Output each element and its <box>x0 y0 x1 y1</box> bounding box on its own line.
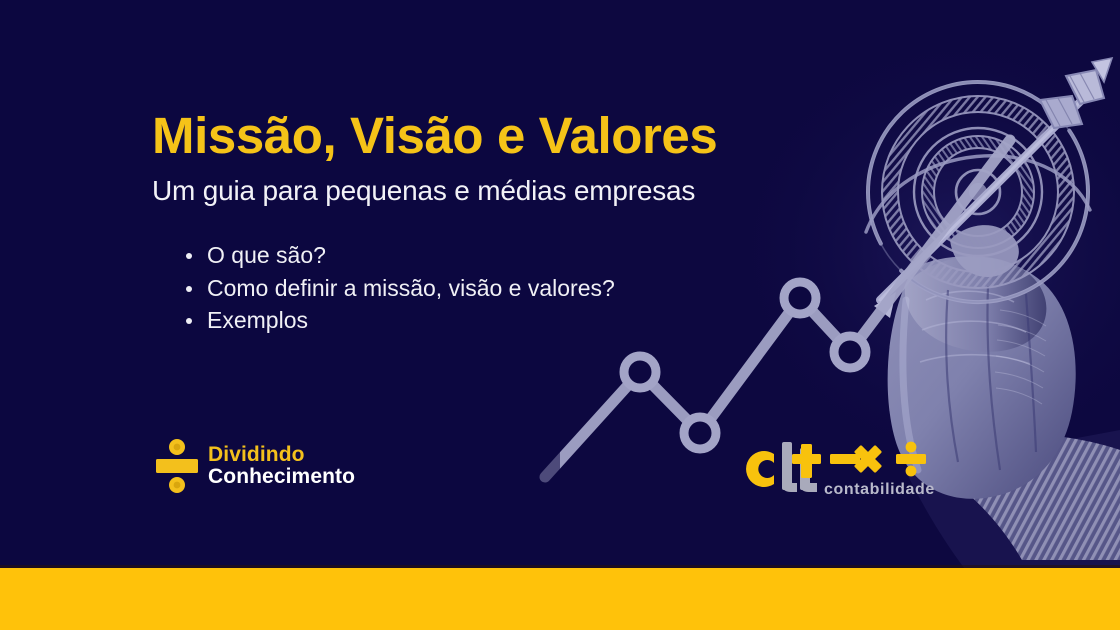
bullseye-target-icon <box>835 49 1120 335</box>
arrow-icon <box>874 58 1112 318</box>
page-subtitle: Um guia para pequenas e médias empresas <box>152 175 872 207</box>
headline-block: Missão, Visão e Valores Um guia para peq… <box>152 108 872 337</box>
list-item: Como definir a missão, visão e valores? <box>182 272 872 305</box>
slide-canvas: Missão, Visão e Valores Um guia para peq… <box>0 0 1120 630</box>
bottom-accent-bar <box>0 568 1120 630</box>
clt-minus-symbol <box>830 454 860 464</box>
clt-plus-symbol <box>792 444 821 478</box>
clt-contabilidade-logo: contabilidade <box>738 440 938 506</box>
logo-line-2: Conhecimento <box>208 466 355 488</box>
division-sign-icon <box>155 438 199 494</box>
dividindo-conhecimento-logo: Dividindo Conhecimento <box>155 438 355 494</box>
clt-divide-symbol <box>896 442 926 477</box>
logo-line-1: Dividindo <box>208 444 355 466</box>
topic-list: O que são? Como definir a missão, visão … <box>182 239 872 337</box>
hand-photo-illustration <box>888 225 1120 600</box>
clt-tagline: contabilidade <box>824 481 935 498</box>
list-item: Exemplos <box>182 304 872 337</box>
page-title: Missão, Visão e Valores <box>152 108 872 163</box>
list-item: O que são? <box>182 239 872 272</box>
clt-letter-c <box>746 451 774 487</box>
